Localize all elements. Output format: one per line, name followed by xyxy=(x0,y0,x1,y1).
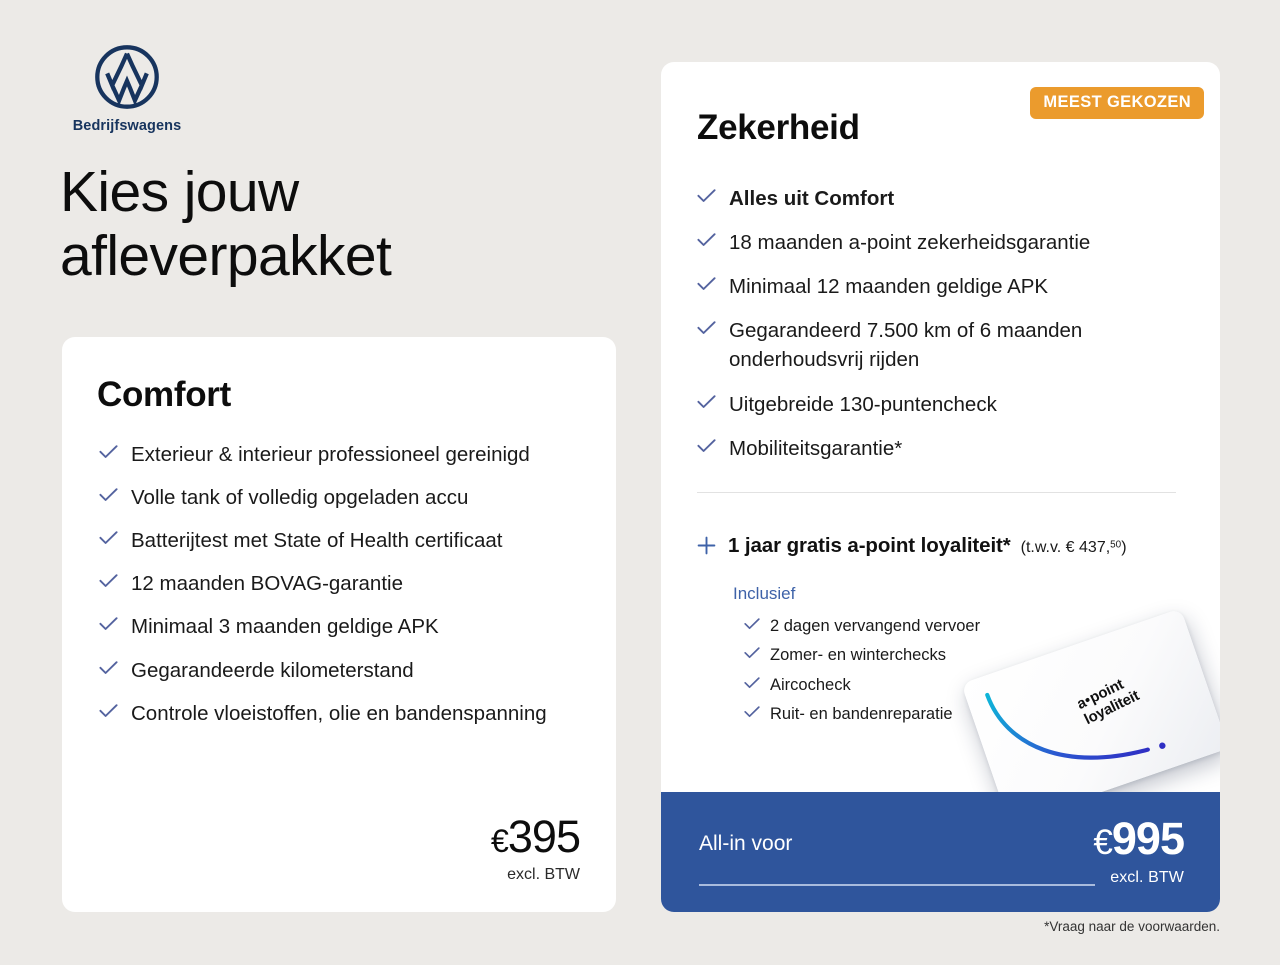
status-badge: MEEST GEKOZEN xyxy=(1030,87,1204,119)
list-item: Uitgebreide 130-puntencheck xyxy=(697,390,1172,419)
comfort-price: €395 excl. BTW xyxy=(491,814,580,884)
list-item-label: Minimaal 3 maanden geldige APK xyxy=(131,612,579,641)
check-icon xyxy=(697,233,716,247)
check-icon xyxy=(99,445,118,459)
conditions-footnote: *Vraag naar de voorwaarden. xyxy=(1044,919,1220,934)
volkswagen-logo-icon xyxy=(94,44,160,110)
price-value: 995 xyxy=(1112,813,1184,864)
list-item-label: Gegarandeerd 7.500 km of 6 maanden onder… xyxy=(729,316,1172,374)
bonus-value: (t.w.v. € 437,50) xyxy=(1021,539,1127,557)
zekerheid-package-card: MEEST GEKOZEN Zekerheid Alles uit Comfor… xyxy=(661,62,1220,912)
check-icon xyxy=(697,395,716,409)
check-icon xyxy=(99,617,118,631)
list-item: 18 maanden a-point zekerheidsgarantie xyxy=(697,228,1172,257)
price-value: 395 xyxy=(508,811,580,862)
list-item: Minimaal 12 maanden geldige APK xyxy=(697,272,1172,301)
zekerheid-feature-list: Alles uit Comfort 18 maanden a-point zek… xyxy=(697,184,1172,478)
bonus-value-cents: 50 xyxy=(1110,540,1121,551)
zekerheid-card-title: Zekerheid xyxy=(697,108,860,148)
bonus-value-prefix: (t.w.v. € 437, xyxy=(1021,539,1111,556)
list-item-label: Uitgebreide 130-puntencheck xyxy=(729,390,1172,419)
comfort-card-title: Comfort xyxy=(97,375,231,415)
check-icon xyxy=(99,531,118,545)
allin-price: €995 excl. BTW xyxy=(1093,816,1184,887)
list-item: Gegarandeerde kilometerstand xyxy=(99,656,579,685)
list-item: Gegarandeerd 7.500 km of 6 maanden onder… xyxy=(697,316,1172,374)
check-icon xyxy=(697,439,716,453)
price-rule xyxy=(699,884,1095,886)
dot-separator-icon xyxy=(1085,697,1090,702)
allin-price-amount: €995 xyxy=(1093,816,1184,861)
list-item: Batterijtest met State of Health certifi… xyxy=(99,526,579,555)
check-icon xyxy=(697,277,716,291)
plus-icon xyxy=(697,536,716,555)
allin-price-footer: All-in voor €995 excl. BTW xyxy=(661,792,1220,912)
check-icon xyxy=(697,189,716,203)
check-icon xyxy=(99,488,118,502)
check-icon xyxy=(99,661,118,675)
list-item: Volle tank of volledig opgeladen accu xyxy=(99,483,579,512)
list-item-label: Gegarandeerde kilometerstand xyxy=(131,656,579,685)
brand-sublabel: Bedrijfswagens xyxy=(62,118,192,134)
list-item-label: Alles uit Comfort xyxy=(729,184,1172,213)
list-item: Exterieur & interieur professioneel gere… xyxy=(99,440,579,469)
check-icon xyxy=(744,647,760,659)
currency-symbol: € xyxy=(1093,823,1112,862)
comfort-feature-list: Exterieur & interieur professioneel gere… xyxy=(99,440,579,742)
list-item-label: 18 maanden a-point zekerheidsgarantie xyxy=(729,228,1172,257)
comfort-price-amount: €395 xyxy=(491,814,580,859)
list-item: Alles uit Comfort xyxy=(697,184,1172,213)
bonus-headline-row: 1 jaar gratis a-point loyaliteit* (t.w.v… xyxy=(697,533,1197,558)
list-item: Controle vloeistoffen, olie en bandenspa… xyxy=(99,699,579,728)
list-item-label: Exterieur & interieur professioneel gere… xyxy=(131,440,579,469)
inclusief-label: Inclusief xyxy=(733,584,1197,604)
currency-symbol: € xyxy=(491,823,508,859)
list-item-label: 12 maanden BOVAG-garantie xyxy=(131,569,579,598)
page-title: Kies jouw afleverpakket xyxy=(60,161,391,289)
check-icon xyxy=(99,574,118,588)
comfort-price-vat-note: excl. BTW xyxy=(491,866,580,884)
divider xyxy=(697,492,1176,493)
check-icon xyxy=(744,677,760,689)
list-item-label: Minimaal 12 maanden geldige APK xyxy=(729,272,1172,301)
allin-label: All-in voor xyxy=(699,832,792,856)
list-item-label: Batterijtest met State of Health certifi… xyxy=(131,526,579,555)
left-column: Bedrijfswagens Kies jouw afleverpakket C… xyxy=(0,0,640,965)
list-item-label: Volle tank of volledig opgeladen accu xyxy=(131,483,579,512)
comfort-package-card: Comfort Exterieur & interieur profession… xyxy=(62,337,616,912)
list-item: Minimaal 3 maanden geldige APK xyxy=(99,612,579,641)
check-icon xyxy=(744,706,760,718)
list-item: 12 maanden BOVAG-garantie xyxy=(99,569,579,598)
check-icon xyxy=(744,618,760,630)
check-icon xyxy=(99,704,118,718)
list-item-label: Controle vloeistoffen, olie en bandenspa… xyxy=(131,699,579,728)
check-icon xyxy=(697,321,716,335)
brand-logo: Bedrijfswagens xyxy=(62,44,192,134)
allin-price-vat-note: excl. BTW xyxy=(1093,869,1184,887)
bonus-headline: 1 jaar gratis a-point loyaliteit* xyxy=(728,534,1011,558)
list-item-label: Mobiliteitsgarantie* xyxy=(729,434,1172,463)
list-item: Mobiliteitsgarantie* xyxy=(697,434,1172,463)
bonus-value-suffix: ) xyxy=(1121,539,1126,556)
